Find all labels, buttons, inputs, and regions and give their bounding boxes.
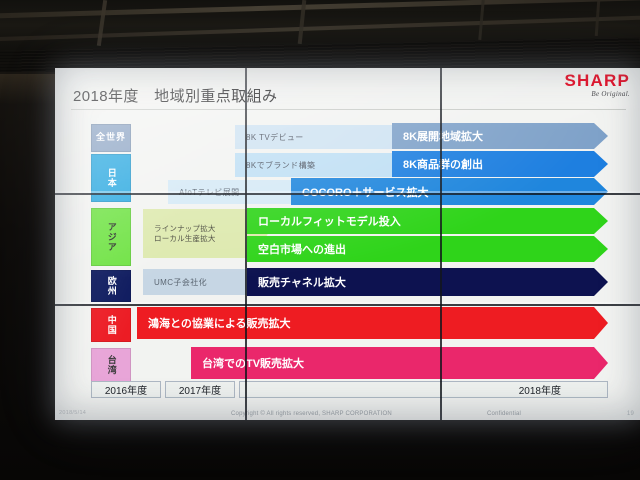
initiative-arrow-white-space-market: 空白市場への進出 <box>247 236 608 262</box>
initiative-label: 8Kでブランド構築 <box>235 160 315 171</box>
initiative-label: 鴻海との協業による販売拡大 <box>137 315 291 331</box>
initiative-arrow-cocoro-service: COCORO＋サービス拡大 <box>291 178 608 205</box>
initiative-label: 8K商品群の創出 <box>392 156 483 172</box>
region-chip-taiwan: 台湾 <box>91 348 131 382</box>
region-chip-worldwide: 全世界 <box>91 124 131 152</box>
timeline-label: 2018年度 <box>519 382 561 397</box>
region-label: 中国 <box>106 315 115 335</box>
region-chip-asia: アジア <box>91 208 131 266</box>
region-label: 全世界 <box>96 133 126 142</box>
initiative-arrow-8k-region-expansion: 8K展開地域拡大 <box>392 123 608 149</box>
ceiling-rail <box>0 0 640 19</box>
ceiling-rail <box>0 14 640 42</box>
timeline-label: 2017年度 <box>179 382 221 397</box>
ceiling-rail <box>97 0 107 46</box>
initiative-label: ローカルフィットモデル投入 <box>247 213 401 229</box>
initiative-arrow-foxconn-collaboration: 鴻海との協業による販売拡大 <box>137 307 608 339</box>
initiative-arrow-sales-channel-expansion: 販売チャネル拡大 <box>247 268 608 296</box>
video-wall-display: SHARP Be Original. 2018年度 地域別重点取組み 全世界 日… <box>55 68 640 420</box>
initiative-label: 台湾でのTV販売拡大 <box>191 355 304 371</box>
initiative-label: COCORO＋サービス拡大 <box>291 184 429 200</box>
screenshot-stage: SHARP Be Original. 2018年度 地域別重点取組み 全世界 日… <box>0 0 640 480</box>
page-title: 2018年度 地域別重点取組み <box>73 85 277 106</box>
initiative-label: ラインナップ拡大 ローカル生産拡大 <box>143 224 216 243</box>
brand-name: SHARP <box>564 72 630 89</box>
timeline-fy2018: 2018年度 <box>239 381 608 398</box>
initiative-arrow-local-fit-model: ローカルフィットモデル投入 <box>247 208 608 234</box>
region-label: 欧州 <box>106 276 115 296</box>
timeline-fy2016: 2016年度 <box>91 381 161 398</box>
initiative-label: 8K TVデビュー <box>235 132 304 143</box>
date-stamp: 2018/5/14 <box>59 410 86 416</box>
footer-page-number: 19 <box>627 411 634 417</box>
region-label: 日本 <box>106 168 115 188</box>
timeline-label: 2016年度 <box>105 382 147 397</box>
initiative-arrow-8k-product-creation: 8K商品群の創出 <box>392 151 608 177</box>
timeline-fy2017: 2017年度 <box>165 381 235 398</box>
region-label: 台湾 <box>106 355 115 375</box>
initiative-label: UMC子会社化 <box>143 277 207 288</box>
initiative-label: 8K展開地域拡大 <box>392 128 483 144</box>
title-divider <box>71 109 626 110</box>
initiative-label: 販売チャネル拡大 <box>247 274 346 290</box>
region-chip-japan: 日本 <box>91 154 131 202</box>
brand-tagline: Be Original. <box>564 91 630 98</box>
region-chip-europe: 欧州 <box>91 270 131 302</box>
region-chip-china: 中国 <box>91 308 131 342</box>
initiative-arrow-8k-brand-building: 8Kでブランド構築 <box>235 153 418 177</box>
initiative-arrow-taiwan-tv-sales: 台湾でのTV販売拡大 <box>191 347 608 379</box>
initiative-label: AIoTテレビ展開 <box>168 187 240 198</box>
footer-confidential: Confidential <box>487 411 521 417</box>
presentation-slide: SHARP Be Original. 2018年度 地域別重点取組み 全世界 日… <box>55 68 640 420</box>
initiative-label: 空白市場への進出 <box>247 241 346 257</box>
footer-copyright: Copyright © All rights reserved, SHARP C… <box>231 411 392 417</box>
region-label: アジア <box>106 222 115 252</box>
sharp-logo: SHARP Be Original. <box>564 72 630 98</box>
